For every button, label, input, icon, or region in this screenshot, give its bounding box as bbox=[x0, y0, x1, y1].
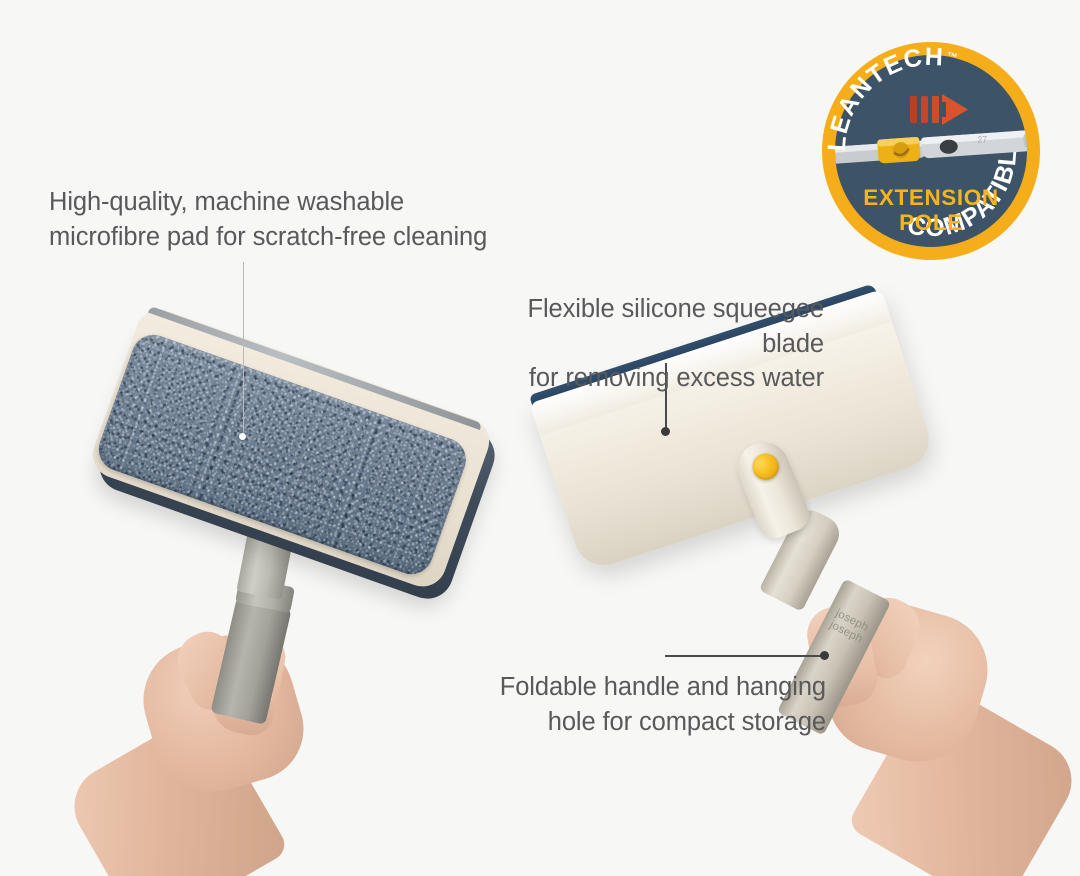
leader-dot-silicone-blade bbox=[661, 427, 670, 436]
svg-text:27: 27 bbox=[977, 134, 988, 145]
infographic-canvas: joseph joseph High-quality, machine wash… bbox=[0, 0, 1080, 876]
cleantech-extension-pole-badge: 27 CLEANTECH™ COMPATIBLE EXTENSION POLE bbox=[818, 38, 1044, 264]
annotation-foldable-handle: Foldable handle and hanging hole for com… bbox=[498, 670, 826, 739]
product-microfibre-pad-head bbox=[95, 330, 525, 876]
annotation-microfibre-pad: High-quality, machine washable microfibr… bbox=[49, 185, 487, 254]
leader-dot-foldable-handle bbox=[820, 651, 829, 660]
badge-svg: 27 CLEANTECH™ COMPATIBLE EXTENSION POLE bbox=[818, 38, 1044, 264]
annotation-silicone-blade: Flexible silicone squeegee blade for rem… bbox=[468, 292, 824, 396]
leader-line-microfibre-pad bbox=[243, 262, 244, 438]
product-squeegee-head: joseph joseph bbox=[540, 320, 1050, 876]
leader-dot-microfibre-pad bbox=[239, 433, 246, 440]
leader-line-foldable-handle bbox=[665, 655, 825, 657]
badge-center-line-2: POLE bbox=[899, 210, 963, 235]
badge-center-line-1: EXTENSION bbox=[863, 185, 998, 210]
left-product-head bbox=[86, 303, 495, 593]
